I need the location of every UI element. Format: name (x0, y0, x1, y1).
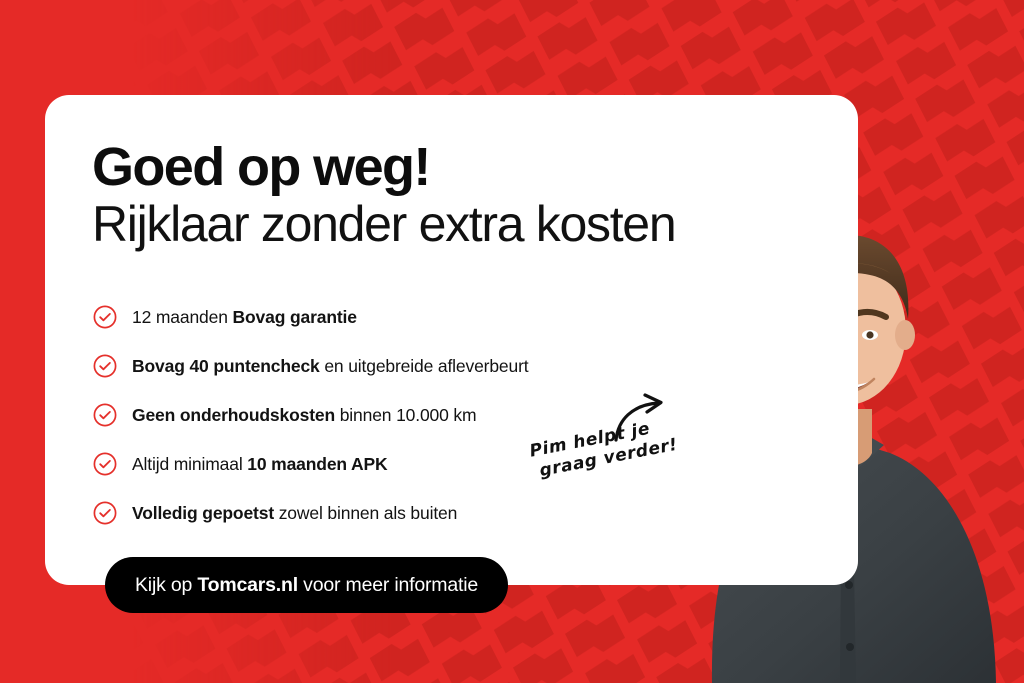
cta-label: Kijk op Tomcars.nl voor meer informatie (135, 574, 478, 597)
bullet-1-bold: Bovag garantie (233, 307, 357, 327)
check-circle-icon (93, 305, 117, 329)
bullet-2-bold: Bovag 40 puntencheck (132, 356, 320, 376)
bullet-5-bold: Volledig gepoetst (132, 503, 274, 523)
list-item-text: Geen onderhoudskosten binnen 10.000 km (132, 405, 476, 426)
bullet-2-suffix: en uitgebreide afleverbeurt (320, 356, 529, 376)
cta-brand: Tomcars.nl (197, 574, 298, 596)
list-item-text: Volledig gepoetst zowel binnen als buite… (132, 503, 457, 524)
info-card: Goed op weg! Rijklaar zonder extra koste… (45, 95, 858, 585)
bullet-4-prefix: Altijd minimaal (132, 454, 247, 474)
check-circle-icon (93, 403, 117, 427)
bullet-4-bold: 10 maanden APK (247, 454, 387, 474)
list-item: Volledig gepoetst zowel binnen als buite… (93, 489, 733, 537)
list-item: Bovag 40 puntencheck en uitgebreide afle… (93, 342, 733, 390)
bullet-3-bold: Geen onderhoudskosten (132, 405, 335, 425)
check-circle-icon (93, 452, 117, 476)
bullet-1-prefix: 12 maanden (132, 307, 233, 327)
headline-line-1: Goed op weg! (92, 140, 822, 194)
cta-prefix: Kijk op (135, 574, 197, 596)
cta-suffix: voor meer informatie (298, 574, 478, 596)
headline-block: Goed op weg! Rijklaar zonder extra koste… (92, 140, 822, 251)
list-item: 12 maanden Bovag garantie (93, 293, 733, 341)
headline-line-2: Rijklaar zonder extra kosten (92, 198, 822, 251)
bullet-5-suffix: zowel binnen als buiten (274, 503, 457, 523)
cta-button[interactable]: Kijk op Tomcars.nl voor meer informatie (105, 557, 508, 613)
bullet-3-suffix: binnen 10.000 km (335, 405, 476, 425)
banner-stage: Goed op weg! Rijklaar zonder extra koste… (0, 0, 1024, 683)
list-item-text: Altijd minimaal 10 maanden APK (132, 454, 388, 475)
check-circle-icon (93, 501, 117, 525)
list-item-text: Bovag 40 puntencheck en uitgebreide afle… (132, 356, 528, 377)
list-item-text: 12 maanden Bovag garantie (132, 307, 357, 328)
check-circle-icon (93, 354, 117, 378)
